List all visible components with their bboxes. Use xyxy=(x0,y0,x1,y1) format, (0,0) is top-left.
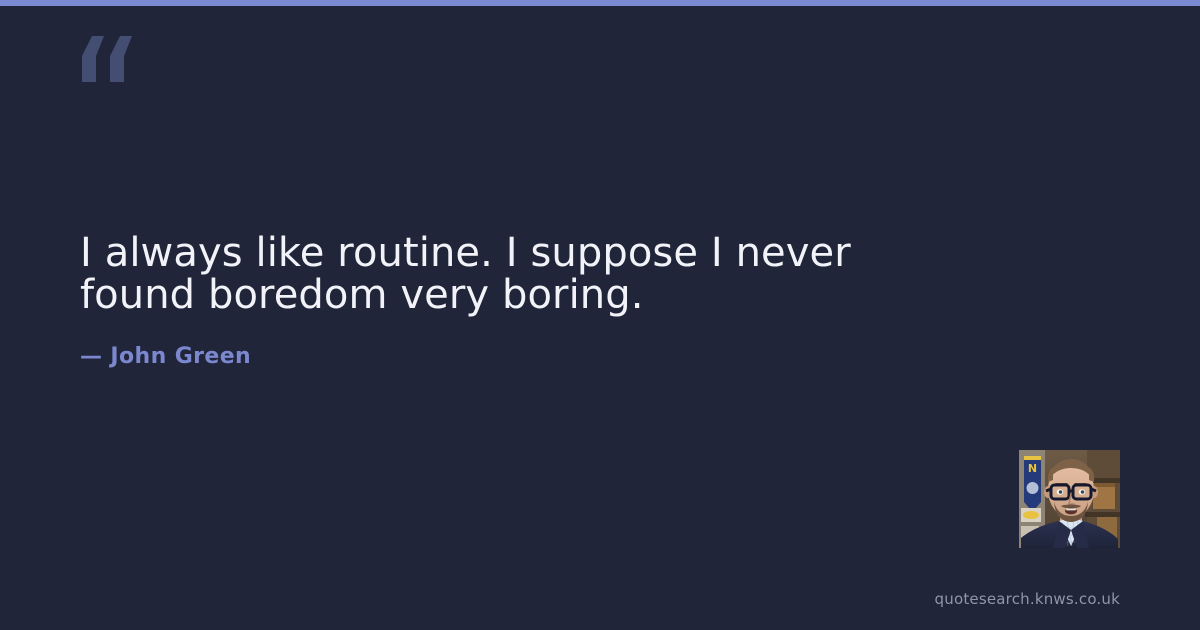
quote-text: I always like routine. I suppose I never… xyxy=(80,232,950,317)
quote-card: I always like routine. I suppose I never… xyxy=(0,0,1200,630)
top-accent-bar xyxy=(0,0,1200,6)
author-name: John Green xyxy=(110,344,251,369)
svg-text:N: N xyxy=(1028,462,1037,475)
source-url: quotesearch.knws.co.uk xyxy=(935,590,1120,608)
quote-block: I always like routine. I suppose I never… xyxy=(80,232,950,317)
attribution-dash: — xyxy=(80,344,102,369)
author-thumbnail: N xyxy=(1019,450,1120,548)
quote-attribution: —John Green xyxy=(80,344,251,369)
open-quote-icon xyxy=(78,36,138,82)
